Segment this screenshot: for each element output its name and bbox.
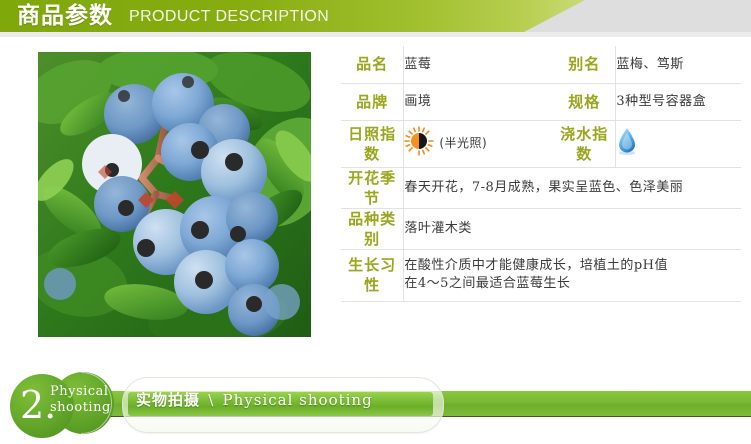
spec-value-shengzhang-xixing: 在酸性介质中才能健康成长，培植土的pH值 在4～5之间最适合蓝莓生长 (404, 249, 741, 301)
page-title-en: PRODUCT DESCRIPTION (129, 7, 329, 27)
spec-value-jiaoshui-zhishu (616, 120, 741, 167)
spec-value-pinming: 蓝莓 (404, 46, 553, 83)
section-title-cn: 实物拍摄 (136, 391, 200, 409)
section-title-en: Physical shooting (223, 391, 373, 409)
spec-label-kaihua-jijie: 开花季节 (341, 167, 404, 208)
spec-label-rizhao-zhishu: 日照指数 (341, 120, 404, 167)
product-spec-table: 品名 蓝莓 别名 蓝梅、笃斯 品牌 画境 规格 3种型号容器盒 日照指数 (341, 46, 741, 302)
spec-label-pinzhong-leibie: 品种类别 (341, 208, 404, 249)
header-underline (0, 32, 751, 37)
table-row: 品种类别 落叶灌木类 (341, 208, 741, 249)
spec-value-rizhao-zhishu: (半光照) (404, 120, 553, 167)
spec-label-pinpai: 品牌 (341, 83, 404, 120)
table-row: 品名 蓝莓 别名 蓝梅、笃斯 (341, 46, 741, 83)
sun-index-note: (半光照) (439, 134, 487, 153)
section-number-badge: 2. Physical shooting (6, 370, 122, 444)
table-row: 生长习性 在酸性介质中才能健康成长，培植土的pH值 在4～5之间最适合蓝莓生长 (341, 249, 741, 301)
water-drop-icon (616, 126, 741, 162)
table-row: 日照指数 (341, 120, 741, 167)
spec-label-jiaoshui-zhishu: 浇水指数 (553, 120, 616, 167)
spec-label-pinming: 品名 (341, 46, 404, 83)
product-photo (38, 52, 311, 337)
half-sun-icon (404, 126, 434, 162)
spec-label-bieming: 别名 (553, 46, 616, 83)
spec-value-pinzhong-leibie: 落叶灌木类 (404, 208, 741, 249)
section-title-separator: \ (206, 391, 216, 409)
spec-value-pinpai: 画境 (404, 83, 553, 120)
spec-value-bieming: 蓝梅、笃斯 (616, 46, 741, 83)
section-banner-text: 实物拍摄 \ Physical shooting (136, 388, 373, 412)
page-header-banner: 商品参数 PRODUCT DESCRIPTION (0, 0, 751, 32)
spec-value-guige: 3种型号容器盒 (616, 83, 741, 120)
blueberry-photo-illustration (38, 52, 311, 337)
table-row: 品牌 画境 规格 3种型号容器盒 (341, 83, 741, 120)
spec-label-shengzhang-xixing: 生长习性 (341, 249, 404, 301)
spec-label-guige: 规格 (553, 83, 616, 120)
page-title-cn: 商品参数 (17, 2, 113, 30)
table-row: 开花季节 春天开花，7-8月成熟，果实呈蓝色、色泽美丽 (341, 167, 741, 208)
spec-value-kaihua-jijie: 春天开花，7-8月成熟，果实呈蓝色、色泽美丽 (404, 167, 741, 208)
